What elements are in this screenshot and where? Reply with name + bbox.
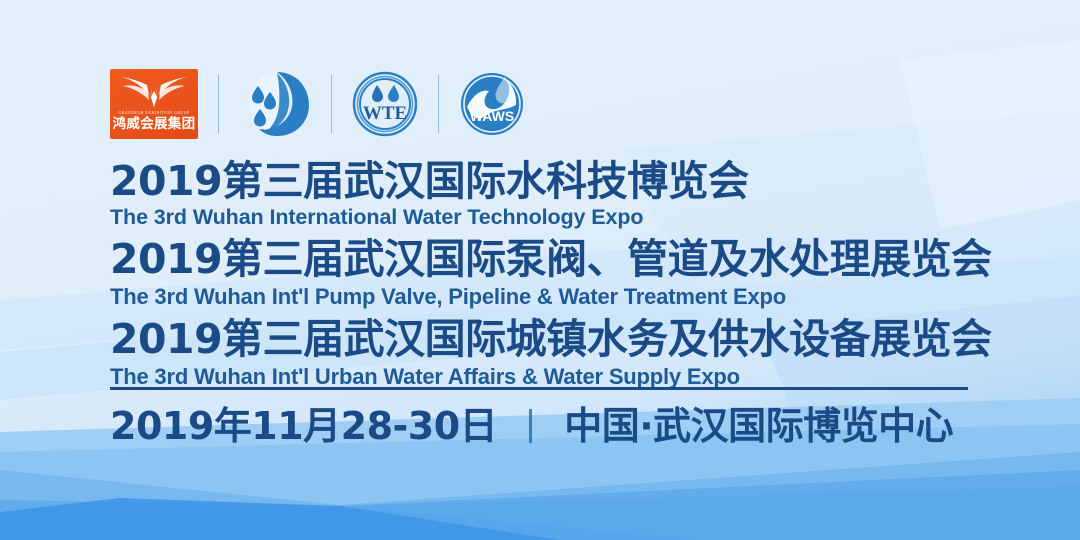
wings-w-icon [117,73,191,109]
footer-separator [529,409,532,443]
event-banner: GRANDEUR EXHIBITION GROUP 鸿威会展集团 WTE [0,0,1080,540]
wte-logo: WTE [352,71,418,137]
title-block-1: 2019第三届武汉国际水科技博览会 The 3rd Wuhan Internat… [110,158,990,230]
logo-row: GRANDEUR EXHIBITION GROUP 鸿威会展集团 WTE [110,64,525,144]
logo-divider-1 [218,75,219,133]
title-group: 2019第三届武汉国际水科技博览会 The 3rd Wuhan Internat… [110,158,990,396]
footer-info: 2019年11月28-30日 中国·武汉国际博览中心 [110,399,953,453]
title-2-english: The 3rd Wuhan Int'l Pump Valve, Pipeline… [110,283,990,310]
grandeur-logo-chinese: 鸿威会展集团 [113,116,196,132]
title-3-chinese: 2019第三届武汉国际城镇水务及供水设备展览会 [110,316,990,363]
waws-logo-label: WAWS [470,108,514,124]
event-venue: 中国·武汉国际博览中心 [564,402,953,450]
title-block-3: 2019第三届武汉国际城镇水务及供水设备展览会 The 3rd Wuhan In… [110,316,990,390]
horizontal-divider [110,387,968,390]
event-date: 2019年11月28-30日 [110,402,497,450]
grandeur-exhibition-group-logo: GRANDEUR EXHIBITION GROUP 鸿威会展集团 [110,69,198,139]
water-drop-circle-logo [239,68,311,140]
logo-divider-2 [331,75,332,133]
wte-logo-label: WTE [363,103,407,124]
waws-logo: WAWS [459,71,525,137]
title-1-english: The 3rd Wuhan International Water Techno… [110,204,990,230]
logo-divider-3 [438,75,439,133]
title-2-chinese: 2019第三届武汉国际泵阀、管道及水处理展览会 [110,236,990,283]
title-3-english: The 3rd Wuhan Int'l Urban Water Affairs … [110,363,990,390]
title-1-chinese: 2019第三届武汉国际水科技博览会 [110,158,990,204]
title-block-2: 2019第三届武汉国际泵阀、管道及水处理展览会 The 3rd Wuhan In… [110,236,990,310]
